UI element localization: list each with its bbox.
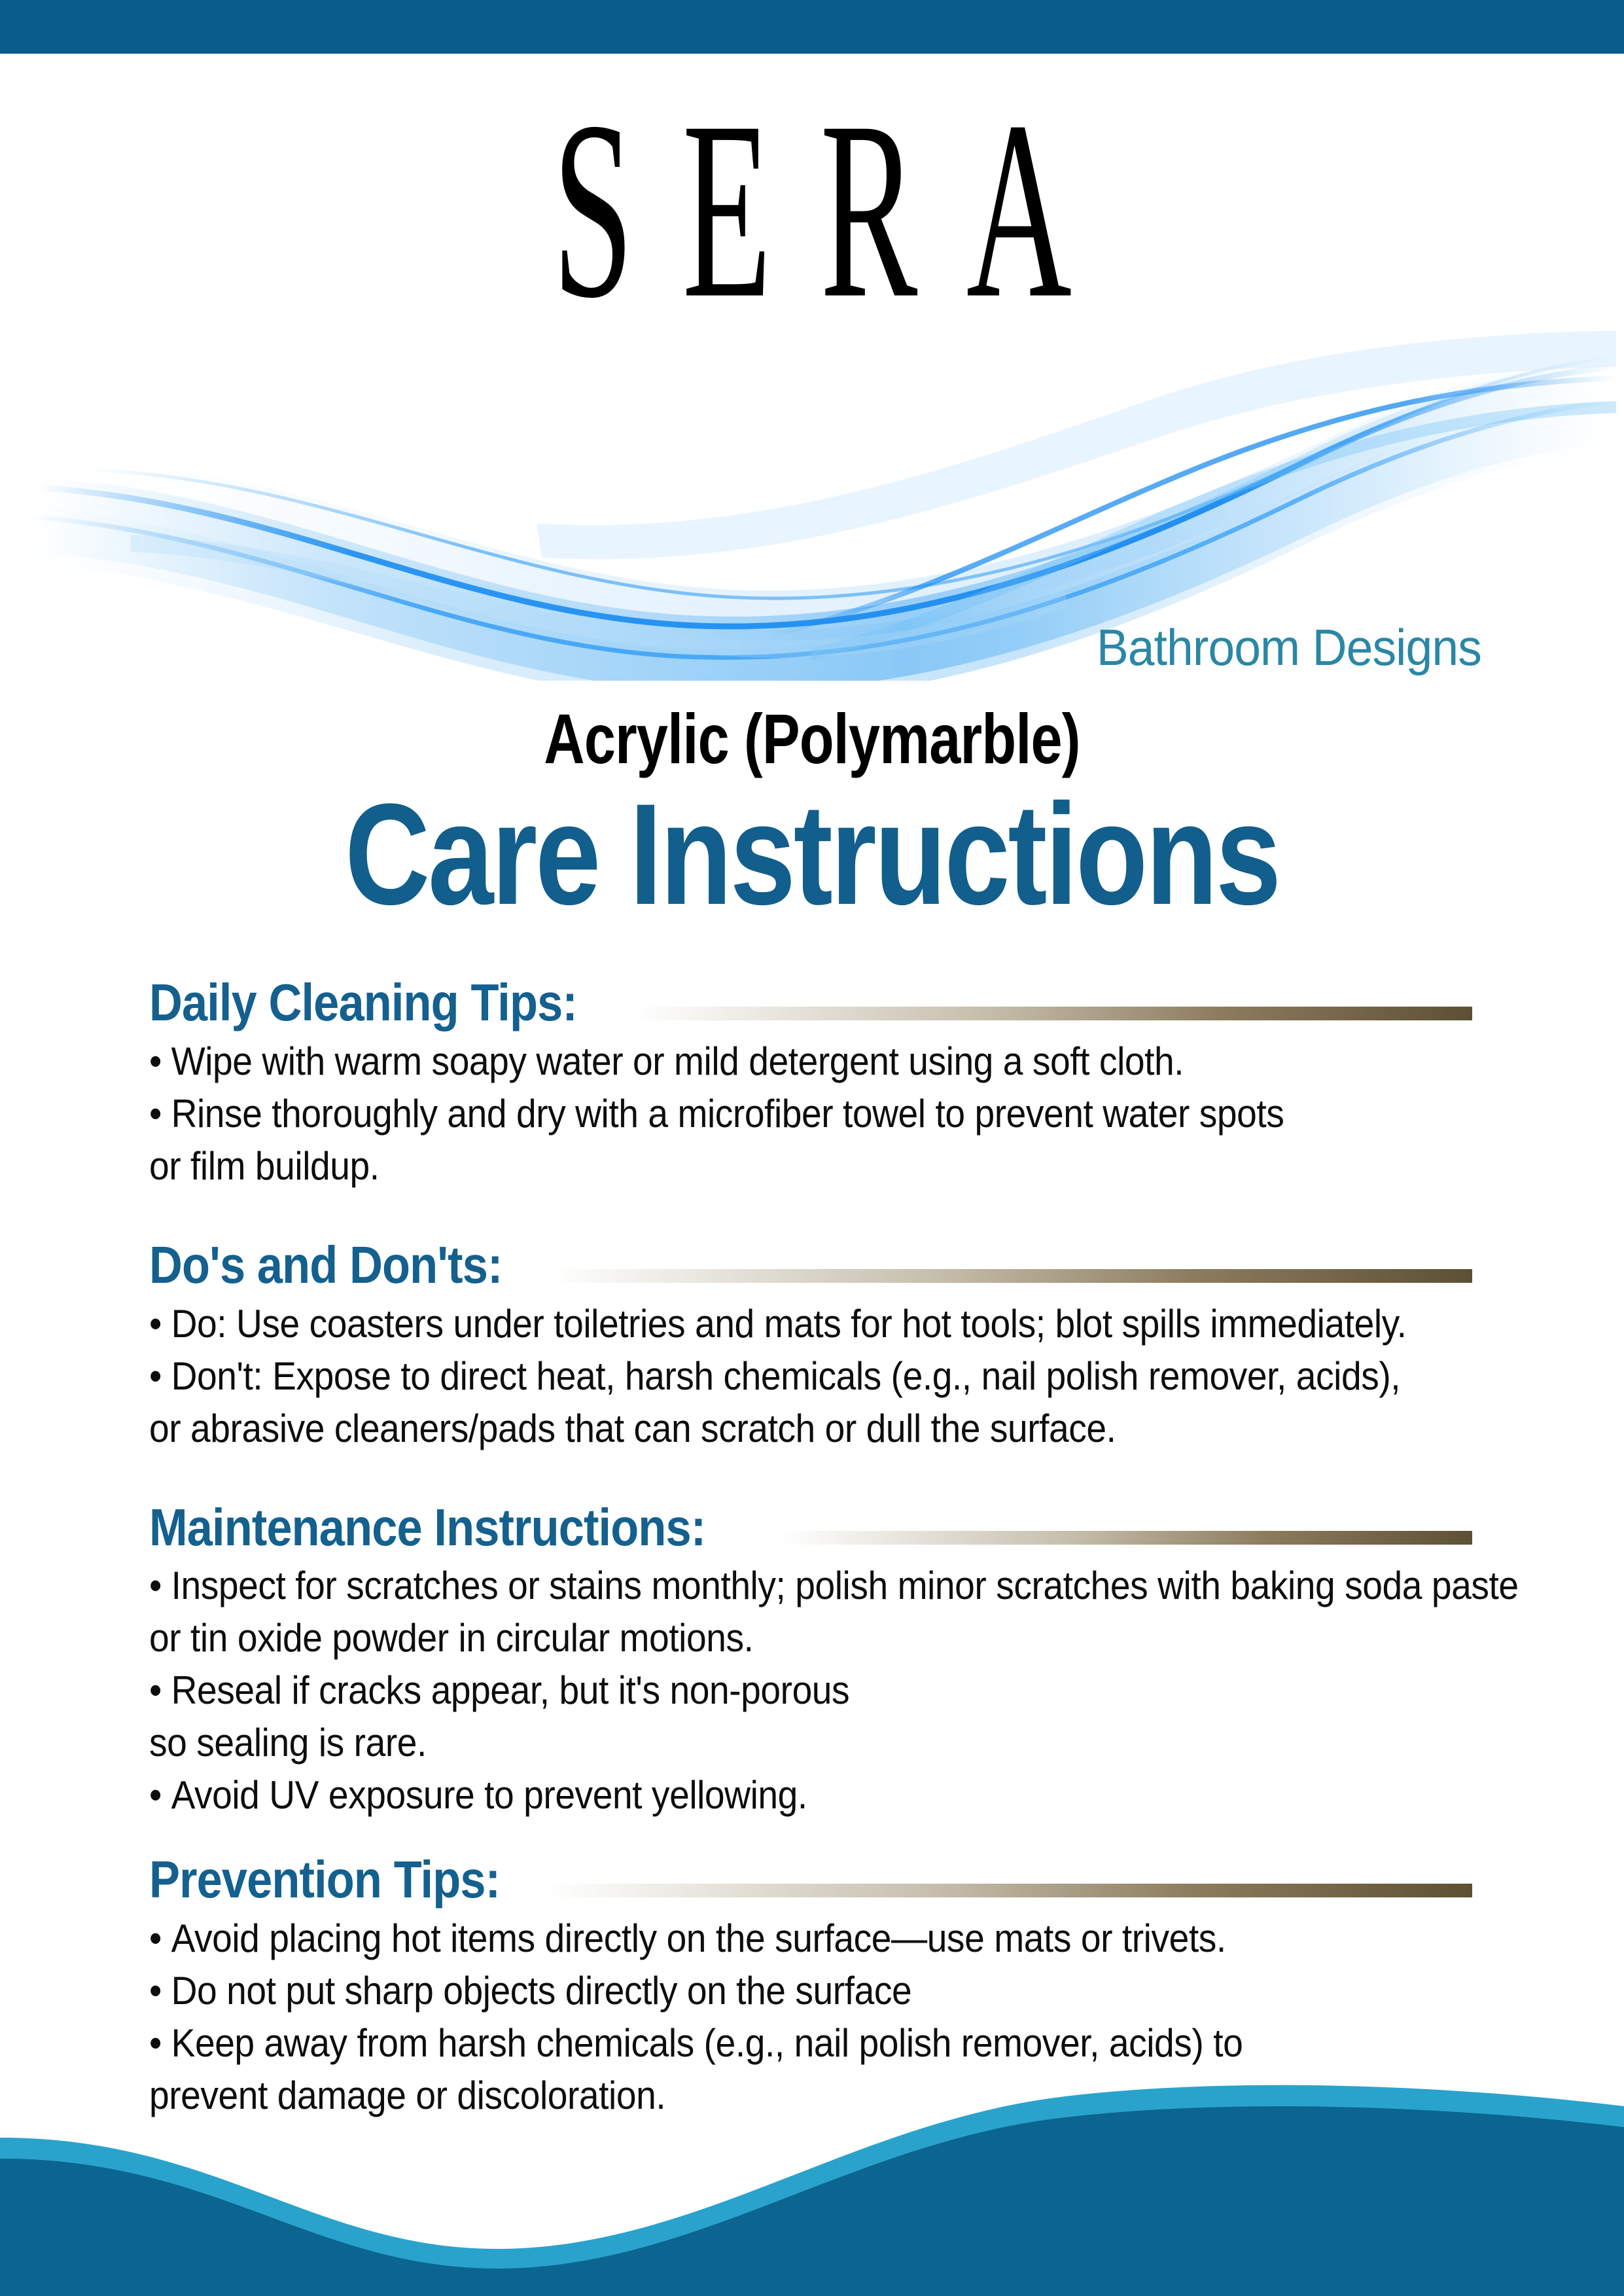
section-title: Do's and Don'ts: — [149, 1238, 503, 1293]
list-item-continuation: or abrasive cleaners/pads that can scrat… — [149, 1407, 1366, 1450]
list-item-text: or film buildup. — [149, 1144, 380, 1188]
section-body: •Do: Use coasters under toiletries and m… — [149, 1302, 1472, 1450]
list-item-text: Keep away from harsh chemicals (e.g., na… — [171, 2021, 1243, 2065]
section-divider-rule — [548, 1884, 1472, 1897]
list-item-text: prevent damage or discoloration. — [149, 2073, 665, 2117]
bullet-icon: • — [149, 1039, 162, 1083]
list-item-text: Rinse thoroughly and dry with a microfib… — [171, 1092, 1284, 1136]
brand-tagline: Bathroom Designs — [97, 622, 1624, 673]
brand-logo-text: SERA — [504, 98, 1121, 322]
list-item-continuation: prevent damage or discoloration. — [149, 2074, 1366, 2117]
section-title: Prevention Tips: — [149, 1852, 500, 1908]
bullet-icon: • — [149, 1916, 162, 1960]
bullet-icon: • — [149, 1969, 162, 2013]
bullet-icon: • — [149, 1354, 162, 1398]
list-item-continuation: or tin oxide powder in circular motions. — [149, 1617, 1366, 1660]
list-item: •Wipe with warm soapy water or mild dete… — [149, 1040, 1366, 1083]
list-item-text: or abrasive cleaners/pads that can scrat… — [149, 1407, 1116, 1450]
bullet-icon: • — [149, 1668, 162, 1712]
bullet-icon: • — [149, 1773, 162, 1817]
section-divider-rule — [550, 1269, 1472, 1283]
list-item-continuation: so sealing is rare. — [149, 1721, 1366, 1765]
section-header: Prevention Tips: — [149, 1852, 1472, 1908]
section-header: Daily Cleaning Tips: — [149, 975, 1472, 1031]
list-item: •Do: Use coasters under toiletries and m… — [149, 1302, 1366, 1346]
list-item-text: Avoid placing hot items directly on the … — [171, 1916, 1226, 1960]
care-instructions-content: Daily Cleaning Tips: •Wipe with warm soa… — [0, 975, 1624, 2126]
section-spacer — [149, 1826, 1472, 1852]
section-header: Maintenance Instructions: — [149, 1500, 1472, 1556]
section-dos-and-donts: Do's and Don'ts: •Do: Use coasters under… — [149, 1238, 1472, 1450]
list-item-text: or tin oxide powder in circular motions. — [149, 1616, 753, 1660]
bullet-icon: • — [149, 1564, 162, 1607]
list-item: •Avoid UV exposure to prevent yellowing. — [149, 1774, 1366, 1817]
section-spacer — [149, 1197, 1472, 1238]
list-item-text: Wipe with warm soapy water or mild deter… — [171, 1039, 1184, 1083]
list-item-text: Do not put sharp objects directly on the… — [171, 1969, 912, 2013]
list-item-text: Avoid UV exposure to prevent yellowing. — [171, 1773, 807, 1817]
page-title: Care Instructions — [146, 782, 1477, 926]
list-item-text: so sealing is rare. — [149, 1721, 427, 1765]
top-accent-bar — [0, 0, 1624, 54]
list-item-text: Don't: Expose to direct heat, harsh chem… — [171, 1354, 1401, 1398]
bullet-icon: • — [149, 1092, 162, 1136]
bullet-icon: • — [149, 1302, 162, 1346]
section-daily-cleaning-tips: Daily Cleaning Tips: •Wipe with warm soa… — [149, 975, 1472, 1188]
section-body: •Wipe with warm soapy water or mild dete… — [149, 1040, 1472, 1188]
brand-logo: SERA — [0, 98, 1624, 306]
list-item-text: Reseal if cracks appear, but it's non-po… — [171, 1668, 850, 1712]
material-subtitle: Acrylic (Polymarble) — [162, 704, 1462, 774]
section-title: Maintenance Instructions: — [149, 1500, 705, 1556]
list-item-text: Do: Use coasters under toiletries and ma… — [171, 1302, 1407, 1346]
section-prevention-tips: Prevention Tips: •Avoid placing hot item… — [149, 1852, 1472, 2117]
list-item: •Reseal if cracks appear, but it's non-p… — [149, 1669, 1366, 1712]
section-spacer — [149, 1460, 1472, 1500]
list-item: •Avoid placing hot items directly on the… — [149, 1917, 1366, 1960]
list-item-continuation: or film buildup. — [149, 1145, 1366, 1188]
list-item-text: Inspect for scratches or stains monthly;… — [171, 1564, 1519, 1607]
list-item: •Inspect for scratches or stains monthly… — [149, 1564, 1366, 1607]
section-divider-rule — [635, 1007, 1472, 1020]
bullet-icon: • — [149, 2021, 162, 2065]
section-header: Do's and Don'ts: — [149, 1238, 1472, 1293]
section-maintenance-instructions: Maintenance Instructions: •Inspect for s… — [149, 1500, 1472, 1818]
list-item: •Do not put sharp objects directly on th… — [149, 1969, 1366, 2013]
list-item: •Rinse thoroughly and dry with a microfi… — [149, 1092, 1366, 1136]
section-body: •Avoid placing hot items directly on the… — [149, 1917, 1472, 2117]
section-title: Daily Cleaning Tips: — [149, 975, 577, 1031]
section-divider-rule — [781, 1531, 1472, 1545]
list-item: •Don't: Expose to direct heat, harsh che… — [149, 1355, 1366, 1398]
list-item: •Keep away from harsh chemicals (e.g., n… — [149, 2022, 1366, 2065]
section-body: •Inspect for scratches or stains monthly… — [149, 1564, 1472, 1817]
